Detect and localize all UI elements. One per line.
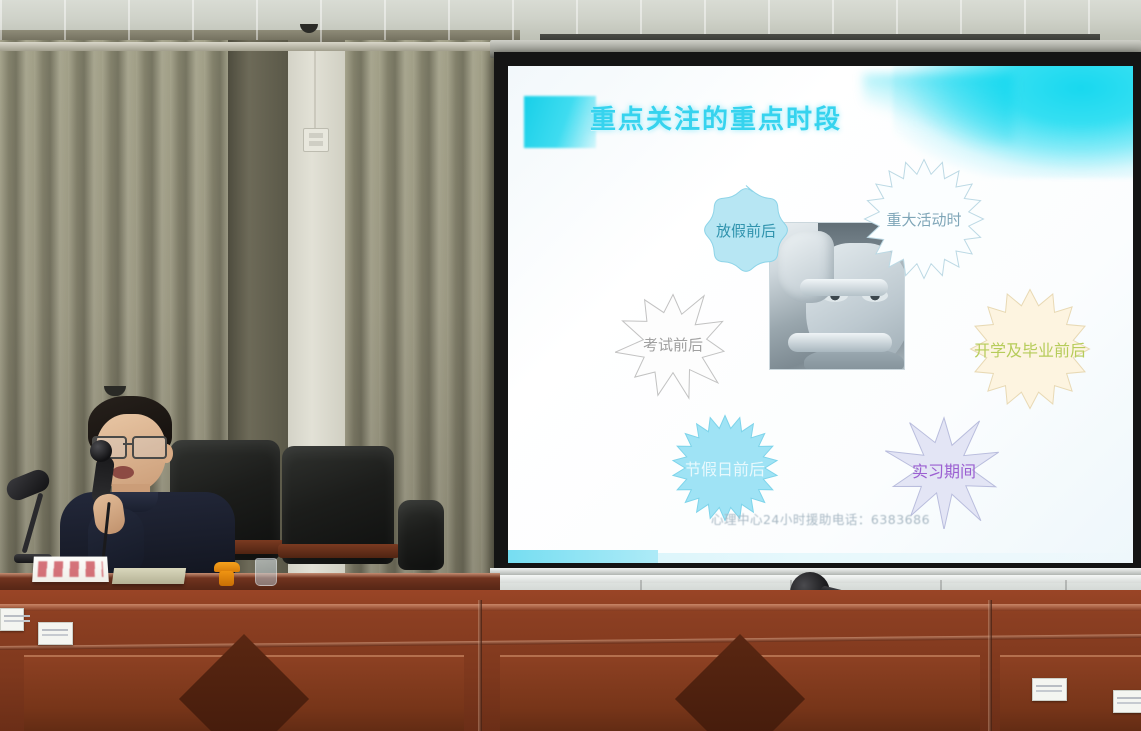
podium-panel-2 <box>500 655 980 731</box>
water-cup <box>255 558 277 586</box>
badge-kaoshi: 考试前后 <box>615 288 731 400</box>
podium-tag-1 <box>38 622 73 645</box>
podium-seam-1 <box>478 600 482 731</box>
cyan-watercolor-wash-2 <box>863 74 1013 144</box>
badge-kaoshi-label: 考试前后 <box>643 334 703 355</box>
podium-lip <box>0 604 1141 611</box>
podium-panel-1 <box>24 655 464 731</box>
badge-jiejiari-label: 节假日前后 <box>685 456 765 480</box>
podium-seam-2 <box>988 600 992 731</box>
photo-finger-lower <box>788 333 892 352</box>
name-card <box>32 557 109 582</box>
badge-kaixue-label: 开学及毕业前后 <box>974 337 1086 361</box>
curtain-rod <box>0 42 510 51</box>
handheld-mic-head-icon <box>90 440 112 462</box>
mic-arm <box>22 493 44 554</box>
photo-finger-upper <box>800 279 888 296</box>
badge-fangjia-label: 放假前后 <box>716 220 776 241</box>
badge-zhongda: 重大活动时 <box>863 158 985 280</box>
slide-bottom-bar <box>508 550 658 563</box>
badge-kaixue: 开学及毕业前后 <box>955 288 1105 410</box>
photo-scene: 重点关注的重点时段 放假前后重大活动时考试前后开学及毕业前后节假日前后实习期间 … <box>0 0 1141 731</box>
podium-tag-4 <box>1113 690 1141 713</box>
slide-bottom-bar-fade <box>658 553 1133 563</box>
slide-title: 重点关注的重点时段 <box>590 99 842 136</box>
presenter <box>60 396 235 581</box>
slide-footer-note: 心理中心24小时援助电话：6383686 <box>711 509 930 528</box>
badge-jiejiari: 节假日前后 <box>661 414 789 522</box>
presenter-mouth <box>112 466 134 479</box>
badge-zhongda-label: 重大活动时 <box>886 209 961 230</box>
podium-tag-2 <box>0 608 24 631</box>
orange-clip-icon <box>212 562 242 586</box>
mic-head-icon <box>3 467 52 504</box>
notebook <box>112 568 186 584</box>
badge-shixi-label: 实习期间 <box>912 458 976 482</box>
projection-screen-frame: 重点关注的重点时段 放假前后重大活动时考试前后开学及毕业前后节假日前后实习期间 … <box>494 52 1141 577</box>
power-outlet[interactable] <box>303 128 329 152</box>
badge-fangjia: 放假前后 <box>700 184 792 276</box>
slide-surface: 重点关注的重点时段 放假前后重大活动时考试前后开学及毕业前后节假日前后实习期间 … <box>508 66 1133 563</box>
podium-tag-3 <box>1032 678 1067 701</box>
wall-cable <box>314 50 316 130</box>
title-accent-block <box>524 96 596 148</box>
